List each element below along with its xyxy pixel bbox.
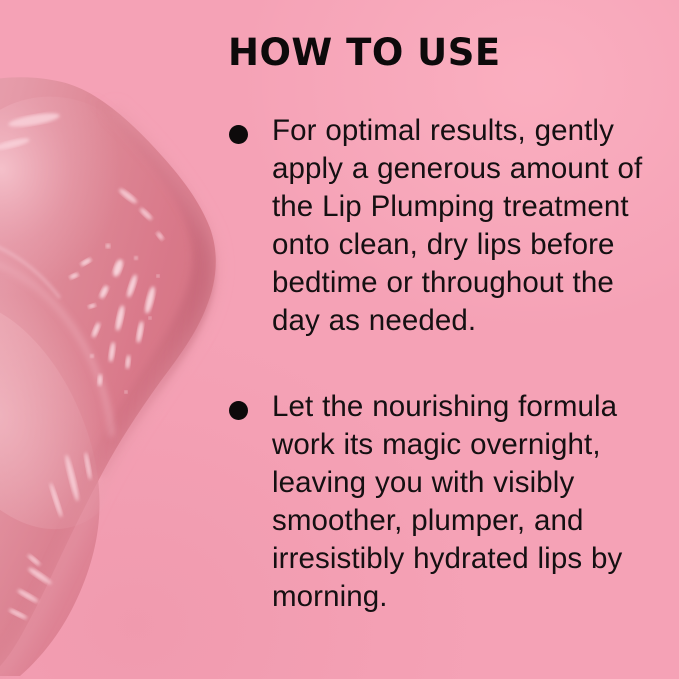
page-title: HOW TO USE xyxy=(228,34,501,71)
lip-gloss-smear-artwork xyxy=(0,0,240,679)
bullet-dot-icon xyxy=(229,125,248,144)
text-column: HOW TO USE For optimal results, gently a… xyxy=(228,0,668,679)
list-item: Let the nourishing formula work its magi… xyxy=(228,388,668,616)
instruction-text: Let the nourishing formula work its magi… xyxy=(272,388,668,616)
how-to-use-card: HOW TO USE For optimal results, gently a… xyxy=(0,0,679,679)
bullet-dot-icon xyxy=(229,401,248,420)
instructions-list: For optimal results, gently apply a gene… xyxy=(228,112,668,616)
instruction-text: For optimal results, gently apply a gene… xyxy=(272,112,668,340)
list-item: For optimal results, gently apply a gene… xyxy=(228,112,668,340)
